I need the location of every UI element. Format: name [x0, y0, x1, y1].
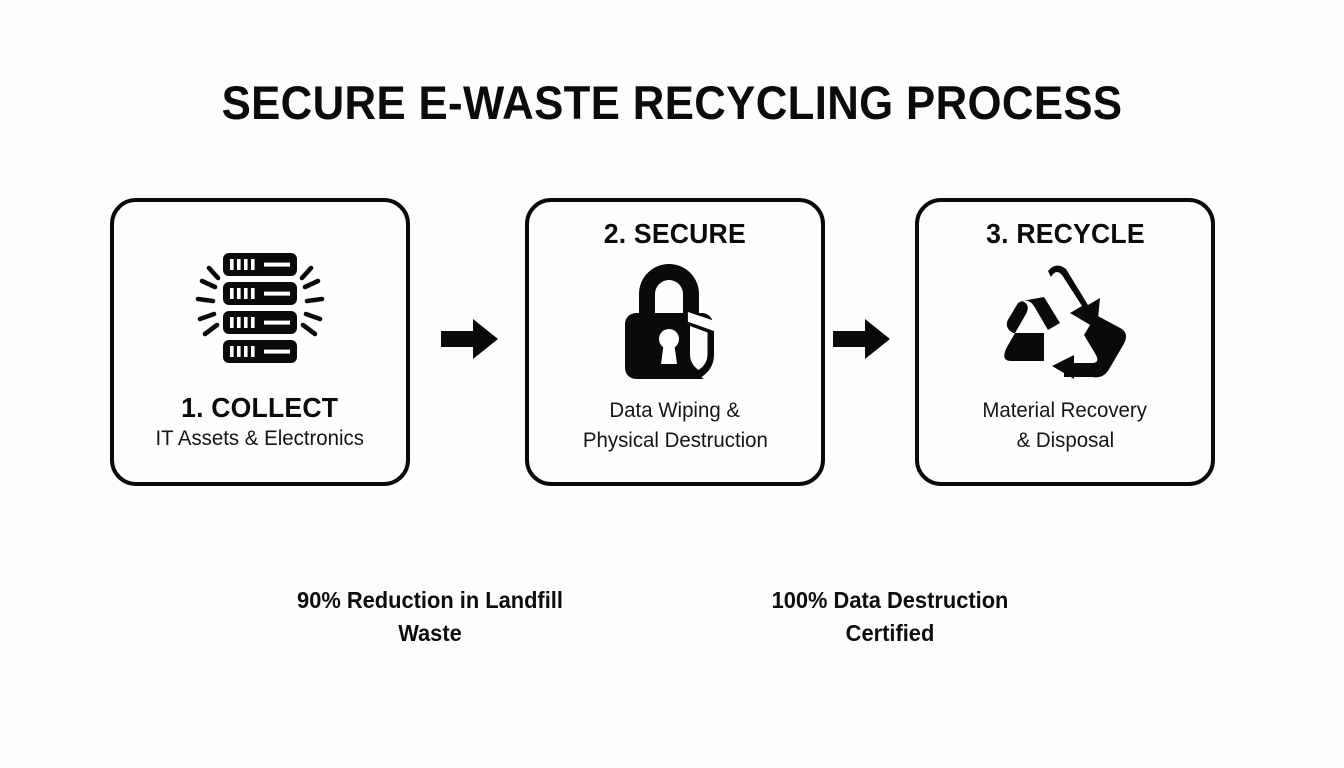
step-heading-collect: 1. COLLECT: [181, 392, 338, 423]
stat-landfill-reduction: 90% Reduction in Landfill Waste: [221, 584, 639, 649]
stat-data-destruction: 100% Data Destruction Certified: [681, 584, 1099, 649]
infographic-canvas: SECURE E-WASTE RECYCLING PROCESS: [0, 0, 1344, 768]
step-label-block-secure: Data Wiping & Physical Destruction: [578, 397, 773, 454]
step-subtitle-recycle-line-1: Material Recovery: [983, 397, 1148, 425]
step-heading-recycle: 3. RECYCLE: [986, 218, 1145, 249]
recycling-symbol-icon: [1004, 261, 1126, 381]
padlock-shield-icon: [613, 261, 737, 381]
step-subtitle-secure-line-1: Data Wiping &: [610, 397, 741, 425]
step-card-recycle[interactable]: 3. RECYCLE Material Recover: [915, 198, 1215, 486]
stat-landfill-reduction-line-2: Waste: [221, 617, 639, 650]
process-flow-row: 1. COLLECT IT Assets & Electronics 2. SE…: [110, 198, 1220, 488]
step-card-secure[interactable]: 2. SECURE: [525, 198, 825, 486]
step-subtitle-recycle-line-2: & Disposal: [1016, 427, 1114, 455]
step-card-collect[interactable]: 1. COLLECT IT Assets & Electronics: [110, 198, 410, 486]
stats-row: 90% Reduction in Landfill Waste 100% Dat…: [110, 584, 1220, 649]
page-title: SECURE E-WASTE RECYCLING PROCESS: [47, 78, 1297, 128]
step-subtitle-collect-line-1: IT Assets & Electronics: [156, 425, 364, 453]
step-label-block-collect: 1. COLLECT IT Assets & Electronics: [150, 392, 369, 453]
step-label-block-recycle: Material Recovery & Disposal: [978, 397, 1151, 454]
server-stack-icon: [185, 250, 335, 370]
arrow-secure-to-recycle-icon: [832, 316, 892, 362]
step-subtitle-secure-line-2: Physical Destruction: [582, 427, 767, 455]
stat-data-destruction-line-2: Certified: [681, 617, 1099, 650]
stat-data-destruction-line-1: 100% Data Destruction: [681, 584, 1099, 617]
step-heading-secure: 2. SECURE: [604, 218, 746, 249]
arrow-collect-to-secure-icon: [440, 316, 500, 362]
stat-landfill-reduction-line-1: 90% Reduction in Landfill: [221, 584, 639, 617]
